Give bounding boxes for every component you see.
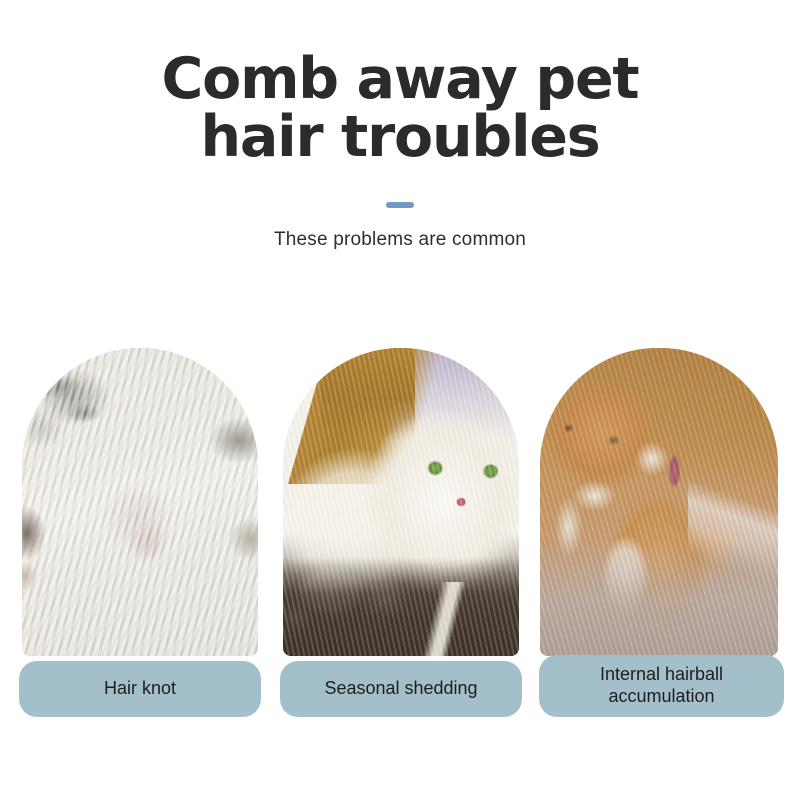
card-caption-internal-hairball: Internal hairball accumulation [539, 655, 784, 717]
photo-layer-shadows [22, 348, 258, 656]
card-caption-text-block: Internal hairball accumulation [600, 664, 723, 708]
card-caption-text: Hair knot [104, 678, 176, 700]
card-caption-hair-knot: Hair knot [19, 661, 261, 717]
photo-layer-tabby-stripes [540, 348, 778, 656]
divider-wrap [0, 195, 800, 213]
card-caption-line-1: Internal hairball [600, 664, 723, 686]
page-title-line-2: hair troubles [0, 108, 800, 166]
problem-card-seasonal-shedding[interactable]: Seasonal shedding [283, 348, 519, 658]
problem-card-internal-hairball[interactable]: Internal hairball accumulation [540, 348, 778, 658]
page-title-line-1: Comb away pet [0, 50, 800, 108]
problem-card-hair-knot[interactable]: Hair knot [22, 348, 258, 658]
page-header: Comb away pet hair troubles These proble… [0, 0, 800, 251]
page-subtitle: These problems are common [0, 213, 800, 251]
card-caption-text: Seasonal shedding [324, 678, 477, 700]
page-title: Comb away pet hair troubles [0, 0, 800, 166]
card-caption-seasonal-shedding: Seasonal shedding [280, 661, 522, 717]
problem-card-row: Hair knot Seasonal shedding [0, 348, 800, 728]
card-caption-line-2: accumulation [600, 686, 723, 708]
cat-photo-internal-hairball [540, 348, 778, 656]
photo-layer-fur-strands [283, 348, 519, 656]
cat-photo-hair-knot [22, 348, 258, 656]
accent-divider [386, 202, 414, 208]
cat-photo-seasonal-shedding [283, 348, 519, 656]
